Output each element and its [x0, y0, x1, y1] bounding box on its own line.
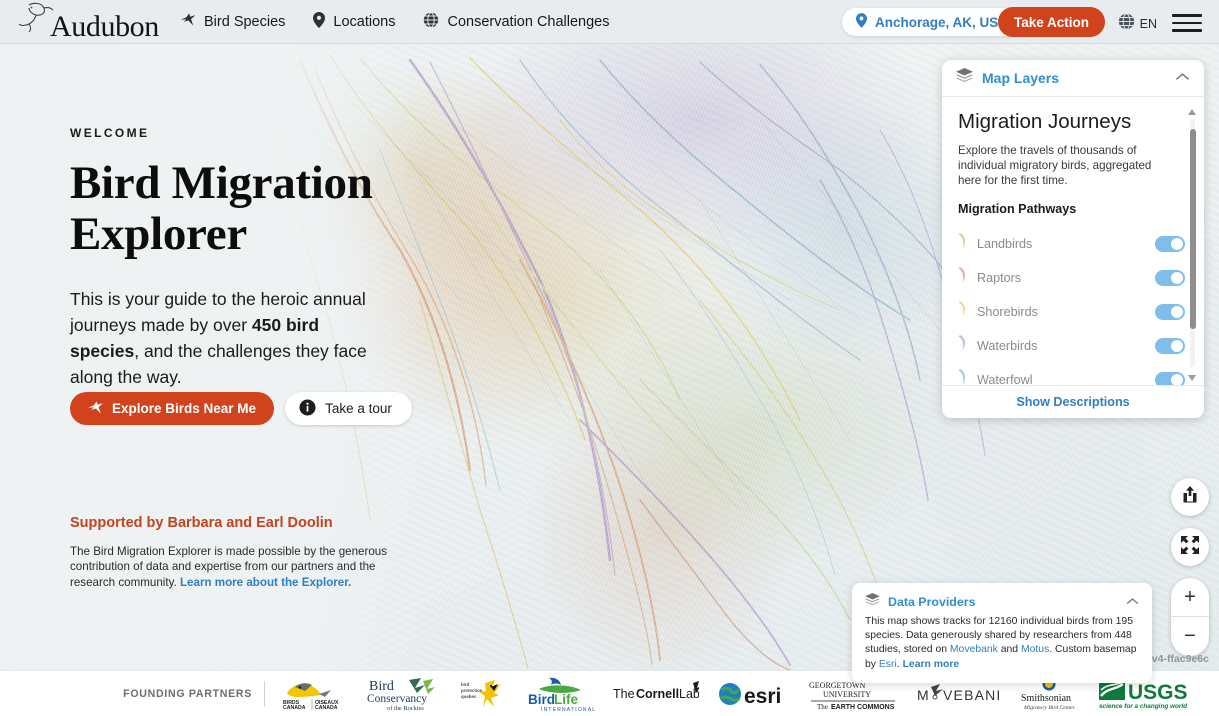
- scrollbar-thumb[interactable]: [1190, 129, 1196, 329]
- swoosh-glyph: [958, 232, 968, 250]
- show-descriptions-button[interactable]: Show Descriptions: [942, 385, 1204, 418]
- cornell-lab-glyph: The Cornell Lab: [613, 681, 699, 707]
- site-header: Audubon Bird Species Locations: [0, 0, 1219, 44]
- take-a-tour-button[interactable]: Take a tour: [285, 392, 412, 425]
- share-upload-icon: [1182, 486, 1198, 508]
- show-descriptions-label: Show Descriptions: [1016, 395, 1129, 409]
- svg-text:UNIVERSITY: UNIVERSITY: [823, 690, 871, 699]
- main-nav: Bird Species Locations: [180, 12, 610, 32]
- svg-text:CANADA: CANADA: [283, 705, 306, 711]
- globe-icon: [1118, 13, 1135, 35]
- birds-canada-glyph: BIRDS CANADA OISEAUX CANADA: [281, 677, 347, 711]
- svg-text:of the Rockies: of the Rockies: [387, 705, 424, 712]
- layer-row-raptors[interactable]: Raptors: [958, 261, 1188, 295]
- swoosh-icon: [958, 232, 968, 255]
- migration-pathways-subtitle: Migration Pathways: [958, 202, 1188, 216]
- welcome-eyebrow: WELCOME: [70, 126, 400, 140]
- layer-toggle-waterfowl[interactable]: [1155, 372, 1185, 385]
- swoosh-icon: [958, 300, 968, 323]
- layer-label-shorebirds: Shorebirds: [977, 305, 1155, 319]
- layer-row-shorebirds[interactable]: Shorebirds: [958, 295, 1188, 329]
- share-button[interactable]: [1171, 478, 1209, 516]
- supporter-text: The Bird Migration Explorer is made poss…: [70, 544, 390, 590]
- triangle-up-icon[interactable]: [1188, 109, 1196, 115]
- lede-part1: This is your guide to the heroic annual …: [70, 289, 366, 335]
- svg-text:M: M: [917, 687, 930, 703]
- svg-text:quebec: quebec: [461, 694, 477, 699]
- layer-label-raptors: Raptors: [977, 271, 1155, 285]
- data-providers-panel: Data Providers This map shows tracks for…: [852, 583, 1152, 683]
- layers-stack-icon: [865, 593, 880, 611]
- map-layers-title: Map Layers: [982, 70, 1175, 86]
- zoom-controls: + −: [1171, 578, 1209, 656]
- location-label: Anchorage, AK, USA: [875, 15, 1008, 30]
- explore-birds-near-me-button[interactable]: Explore Birds Near Me: [70, 392, 274, 425]
- data-providers-header[interactable]: Data Providers: [865, 593, 1139, 611]
- layer-toggle-waterbirds[interactable]: [1155, 338, 1185, 354]
- supporter-title: Supported by Barbara and Earl Doolin: [70, 515, 390, 531]
- expand-glyph: [1181, 536, 1199, 554]
- layers-glyph: [956, 68, 973, 83]
- svg-text:Bird: Bird: [369, 679, 394, 694]
- map-layers-header[interactable]: Map Layers: [942, 60, 1204, 97]
- swoosh-glyph: [958, 266, 968, 284]
- explore-birds-label: Explore Birds Near Me: [112, 401, 256, 416]
- partner-logo-birds-canada[interactable]: BIRDS CANADA OISEAUX CANADA: [281, 677, 347, 711]
- swoosh-glyph: [958, 368, 968, 385]
- page-title-line1: Bird Migration: [70, 157, 373, 209]
- burger-line: [1172, 29, 1202, 32]
- migration-journeys-description: Explore the travels of thousands of indi…: [958, 143, 1172, 189]
- layer-row-waterfowl[interactable]: Waterfowl: [958, 363, 1188, 385]
- swoosh-glyph: [958, 334, 968, 352]
- partner-logo-bird-protection-quebec[interactable]: bird protection quebec: [461, 677, 509, 711]
- layer-label-waterbirds: Waterbirds: [977, 339, 1155, 353]
- svg-text:INTERNATIONAL: INTERNATIONAL: [541, 707, 595, 712]
- svg-text:Conservancy: Conservancy: [367, 693, 427, 705]
- bird-protection-quebec-glyph: bird protection quebec: [461, 677, 509, 711]
- language-selector[interactable]: EN: [1118, 13, 1157, 35]
- burger-line: [1172, 14, 1202, 17]
- bird-icon: [88, 401, 103, 417]
- info-circle-icon: [299, 399, 316, 419]
- nav-label-locations: Locations: [333, 14, 395, 30]
- data-providers-text: This map shows tracks for 12160 individu…: [865, 615, 1139, 672]
- birdlife-glyph: Bird Life INTERNATIONAL: [527, 676, 595, 712]
- nav-item-bird-species[interactable]: Bird Species: [180, 13, 285, 30]
- zoom-in-button[interactable]: +: [1171, 578, 1209, 617]
- expand-arrows-icon: [1181, 536, 1199, 559]
- layers-scrollbar[interactable]: [1186, 105, 1199, 383]
- swoosh-icon: [958, 266, 968, 289]
- nav-label-bird-species: Bird Species: [204, 14, 285, 30]
- footer-divider: [264, 681, 265, 707]
- layer-row-landbirds[interactable]: Landbirds: [958, 227, 1188, 261]
- swoosh-icon: [958, 368, 968, 385]
- intro-content: WELCOME Bird Migration Explorer This is …: [70, 126, 400, 390]
- layer-label-waterfowl: Waterfowl: [977, 373, 1155, 385]
- svg-text:bird: bird: [461, 682, 470, 687]
- cta-row: Explore Birds Near Me Take a tour: [70, 392, 412, 425]
- learn-more-explorer-link[interactable]: Learn more about the Explorer.: [180, 576, 351, 589]
- svg-text:esri: esri: [744, 685, 781, 708]
- svg-text:The: The: [817, 703, 828, 711]
- swoosh-glyph: [958, 300, 968, 318]
- take-a-tour-label: Take a tour: [325, 401, 392, 416]
- app-version-label: v4-ffac9e6c: [1152, 653, 1209, 665]
- layer-toggle-raptors[interactable]: [1155, 270, 1185, 286]
- map-layers-body: Migration Journeys Explore the travels o…: [942, 97, 1204, 385]
- movebank-link[interactable]: Movebank: [950, 644, 998, 655]
- info-glyph: [299, 399, 316, 416]
- audubon-wordmark: Audubon: [50, 12, 159, 42]
- take-action-button[interactable]: Take Action: [998, 7, 1105, 37]
- pin-glyph: [856, 13, 867, 28]
- svg-text:Cornell: Cornell: [636, 687, 679, 701]
- swoosh-icon: [958, 334, 968, 357]
- fullscreen-button[interactable]: [1171, 528, 1209, 566]
- globe-glyph: [423, 12, 439, 28]
- page-title-line2: Explorer: [70, 208, 247, 260]
- pin-glyph: [313, 12, 325, 28]
- data-providers-title: Data Providers: [888, 595, 1126, 609]
- partner-logo-bird-conservancy[interactable]: Bird Conservancy of the Rockies: [365, 676, 443, 712]
- movebank-glyph: M VEBANK: [917, 681, 999, 707]
- language-code: EN: [1140, 17, 1157, 31]
- motus-link[interactable]: Motus: [1021, 644, 1049, 655]
- svg-text:The: The: [613, 687, 635, 701]
- globe-grid-icon: [423, 12, 439, 32]
- layers-stack-icon: [956, 68, 973, 88]
- layers-glyph: [865, 593, 880, 606]
- triangle-down-icon[interactable]: [1188, 375, 1196, 381]
- bird-conservancy-glyph: Bird Conservancy of the Rockies: [365, 676, 443, 712]
- founding-partners-label: FOUNDING PARTNERS: [123, 688, 252, 700]
- layer-toggle-landbirds[interactable]: [1155, 236, 1185, 252]
- data-providers-learn-more-link[interactable]: Learn more: [903, 659, 960, 670]
- chevron-glyph: [1175, 72, 1190, 82]
- nav-label-conservation-challenges: Conservation Challenges: [447, 14, 609, 30]
- supporter-block: Supported by Barbara and Earl Doolin The…: [70, 515, 390, 590]
- svg-text:VEBANK: VEBANK: [943, 687, 999, 703]
- nav-item-locations[interactable]: Locations: [313, 12, 395, 32]
- map-pin-icon: [313, 12, 325, 32]
- bird-icon: [180, 13, 196, 30]
- map-layers-panel: Map Layers Migration Journeys Explore th…: [942, 60, 1204, 418]
- migration-journeys-title: Migration Journeys: [958, 110, 1188, 134]
- intro-lede: This is your guide to the heroic annual …: [70, 286, 370, 390]
- partner-logo-birdlife-international[interactable]: Bird Life INTERNATIONAL: [527, 676, 595, 712]
- globe-glyph: [1118, 13, 1135, 30]
- esri-link[interactable]: Esri: [879, 659, 897, 670]
- nav-item-conservation-challenges[interactable]: Conservation Challenges: [423, 12, 609, 32]
- bird-glyph: [180, 13, 196, 26]
- svg-text:science for a changing world: science for a changing world: [1099, 703, 1188, 710]
- zoom-out-button[interactable]: −: [1171, 617, 1209, 656]
- partner-logo-movebank[interactable]: M VEBANK: [917, 681, 999, 707]
- partner-logo-cornell-lab[interactable]: The Cornell Lab: [613, 681, 699, 707]
- dp-line2b: and: [998, 644, 1021, 655]
- bird-glyph: [88, 401, 103, 414]
- partner-logo-esri[interactable]: esri: [717, 679, 789, 709]
- layer-toggle-shorebirds[interactable]: [1155, 304, 1185, 320]
- layer-row-waterbirds[interactable]: Waterbirds: [958, 329, 1188, 363]
- svg-text:Smithsonian: Smithsonian: [1021, 693, 1071, 704]
- svg-text:Bird: Bird: [528, 692, 555, 707]
- share-glyph: [1182, 486, 1198, 503]
- esri-glyph: esri: [717, 679, 789, 709]
- burger-line: [1172, 22, 1202, 25]
- chevron-glyph: [1126, 597, 1139, 606]
- page-title: Bird Migration Explorer: [70, 158, 400, 260]
- layer-label-landbirds: Landbirds: [977, 237, 1155, 251]
- audubon-logo[interactable]: Audubon: [16, 1, 156, 42]
- map-pin-icon: [856, 13, 867, 31]
- hamburger-menu-icon[interactable]: [1172, 14, 1202, 32]
- svg-text:CANADA: CANADA: [315, 705, 338, 711]
- chevron-up-icon[interactable]: [1126, 593, 1139, 611]
- chevron-up-icon[interactable]: [1175, 69, 1190, 87]
- svg-text:USGS: USGS: [1128, 681, 1188, 704]
- svg-text:EARTH COMMONS: EARTH COMMONS: [831, 704, 895, 711]
- svg-text:Migratory Bird Center: Migratory Bird Center: [1023, 705, 1076, 711]
- svg-text:Life: Life: [554, 692, 578, 707]
